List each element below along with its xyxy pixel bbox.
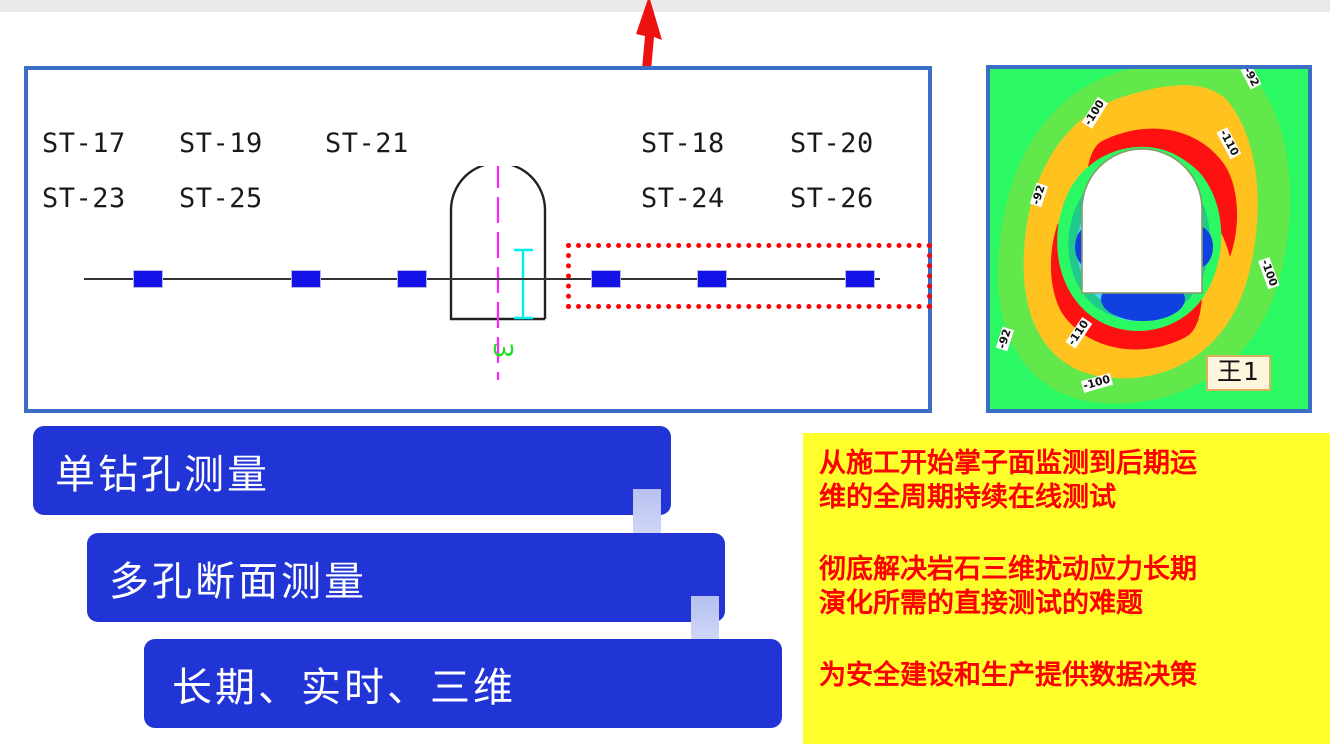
callout-line-1: 从施工开始掌子面监测到后期运 <box>819 447 1314 481</box>
dimension-value-label: 3 <box>487 342 517 359</box>
sensor-label-st-19: ST-19 <box>179 128 263 159</box>
callout-line-5: 为安全建设和生产提供数据决策 <box>819 659 1314 693</box>
tunnel-layout-panel: ST-17 ST-19 ST-21 ST-23 ST-25 ST-18 ST-2… <box>24 66 932 413</box>
sensor-label-st-18: ST-18 <box>641 128 725 159</box>
sensor-label-st-26: ST-26 <box>790 183 874 214</box>
callout-line-3: 彻底解决岩石三维扰动应力长期 <box>819 553 1314 587</box>
yellow-callout-box: 从施工开始掌子面监测到后期运 维的全周期持续在线测试 彻底解决岩石三维扰动应力长… <box>803 433 1330 744</box>
sensor-label-st-25: ST-25 <box>179 183 263 214</box>
sensor-marker <box>398 271 426 287</box>
process-step-2[interactable]: 多孔断面测量 <box>87 533 725 622</box>
highlight-region-box <box>566 243 932 309</box>
sensor-marker <box>292 271 320 287</box>
process-step-1-label: 单钻孔测量 <box>33 442 270 500</box>
sensor-label-st-23: ST-23 <box>42 183 126 214</box>
process-step-3[interactable]: 长期、实时、三维 <box>144 639 782 728</box>
sensor-label-st-20: ST-20 <box>790 128 874 159</box>
process-step-3-label: 长期、实时、三维 <box>144 655 516 713</box>
sensor-label-st-24: ST-24 <box>641 183 725 214</box>
sensor-marker <box>134 271 162 287</box>
process-step-2-label: 多孔断面测量 <box>87 549 367 607</box>
callout-line-4: 演化所需的直接测试的难题 <box>819 587 1314 621</box>
sensor-label-st-17: ST-17 <box>42 128 126 159</box>
sensor-label-st-21: ST-21 <box>325 128 409 159</box>
contour-annotation-box: 王1 <box>1206 355 1271 391</box>
process-step-1[interactable]: 单钻孔测量 <box>33 426 671 515</box>
callout-line-2: 维的全周期持续在线测试 <box>819 481 1314 515</box>
